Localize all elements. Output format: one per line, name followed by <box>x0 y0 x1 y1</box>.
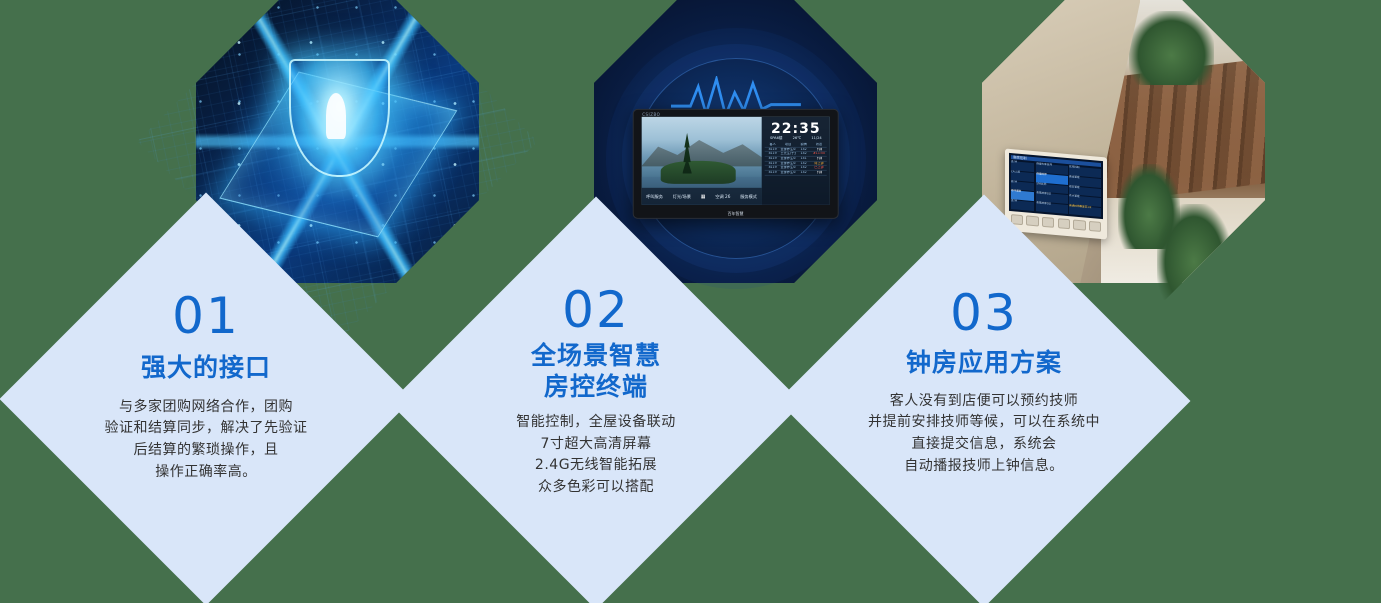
wallpaper-scenery: 呼叫服务 灯光/场景 ▦ 空调 26 服务模式 <box>641 117 762 205</box>
panel-1-desc-line-0: 与多家团购网络合作，团购 <box>105 397 308 419</box>
row-status: 待上钟 <box>811 162 826 166</box>
lock-keyhole-icon <box>326 93 346 138</box>
panel-3-desc-line-3: 自动播报技师上钟信息。 <box>868 456 1100 478</box>
clock-location: SPA6楼 <box>770 137 783 141</box>
row-status: 下钟 <box>811 157 826 161</box>
panel-1-number: 01 <box>172 291 240 341</box>
row-status: 下钟 <box>811 148 826 152</box>
panel-3-content: 03 钟房应用方案 客人没有到店便可以预约技师 并提前安排技师等候，可以在系统中… <box>838 255 1130 547</box>
panel-3-desc-line-0: 客人没有到店便可以预约技师 <box>868 391 1100 413</box>
panel-1-desc-line-3: 操作正确率高。 <box>105 462 308 484</box>
plant-2 <box>1157 204 1231 300</box>
panel-1-description: 与多家团购网络合作，团购 验证和结算同步，解决了先验证 后结算的繁琐操作，且 操… <box>105 397 308 484</box>
row-item: 全身养生SPA <box>780 162 795 166</box>
table-header-0: 客人 <box>765 143 780 147</box>
room-control-tablet[interactable]: CSIZBO 呼叫服务 灯光/场景 ▦ 空调 26 服务模式 <box>632 109 839 219</box>
row-status: 下钟 <box>811 171 826 175</box>
panel-1-desc-line-2: 后结算的繁琐操作，且 <box>105 440 308 462</box>
hardware-button-4[interactable] <box>1057 218 1069 230</box>
hardware-button-2[interactable] <box>1026 215 1038 227</box>
wall-side-button[interactable]: 直 钟 <box>1011 200 1034 211</box>
panel-2-desc-line-2: 2.4G无线智能拓展 <box>516 455 676 477</box>
clock-date: 11/24 <box>811 137 821 141</box>
wall-menu-item[interactable]: 香薰按摩3层 <box>1036 202 1068 214</box>
row-badge: 142 <box>796 152 811 156</box>
row-guest: 8119 <box>765 148 780 152</box>
wall-menu-item[interactable]: 普通技师康复区1/2 <box>1069 205 1101 217</box>
panel-1-title: 强大的接口 <box>141 353 271 384</box>
feature-diamond-grid: CSIZBO 呼叫服务 灯光/场景 ▦ 空调 26 服务模式 <box>0 0 1381 603</box>
panel-2-title-line-1: 房控终端 <box>531 372 661 403</box>
tablet-dock[interactable]: 呼叫服务 灯光/场景 ▦ 空调 26 服务模式 <box>641 188 762 206</box>
table-header-1: 项目 <box>780 143 795 147</box>
row-status: #11:50 <box>811 152 826 156</box>
grid-apps-icon[interactable]: ▦ <box>701 193 706 199</box>
row-item: 全身养生SPA <box>780 157 795 161</box>
row-item: 全身养生SPA <box>780 166 795 170</box>
tablet-bottom-brand: 百年智慧 <box>633 211 838 217</box>
row-guest: 8119 <box>765 157 780 161</box>
island-shape <box>661 161 736 184</box>
row-badge: 142 <box>796 171 811 175</box>
panel-2-description: 智能控制，全屋设备联动 7寸超大高清屏幕 2.4G无线智能拓展 众多色彩可以搭配 <box>516 412 676 499</box>
panel-1-desc-line-1: 验证和结算同步，解决了先验证 <box>105 418 308 440</box>
row-item: 全身养生SPA <box>780 148 795 152</box>
dock-item-0[interactable]: 呼叫服务 <box>646 193 663 199</box>
dock-item-3[interactable]: 服务模式 <box>740 193 757 199</box>
status-column: 22:35 SPA6楼 26℃ 11/24 客人 项目 钟牌 状态 8119 <box>762 117 830 205</box>
row-item: 全身养生SPA <box>780 171 795 175</box>
panel-3-desc-line-2: 直接提交信息，系统会 <box>868 434 1100 456</box>
table-header-2: 钟牌 <box>796 143 811 147</box>
tablet-screen[interactable]: 呼叫服务 灯光/场景 ▦ 空调 26 服务模式 22:35 SPA6楼 26℃ … <box>641 117 830 205</box>
clock-temperature: 26℃ <box>793 137 802 141</box>
row-guest: 8119 <box>765 152 780 156</box>
hardware-button-3[interactable] <box>1042 216 1054 228</box>
wall-panel-side-buttons[interactable]: 直 钟CALL服圆 钟呼叫服务直 钟 <box>1011 161 1034 211</box>
clock-time: 22:35 <box>765 122 827 136</box>
wall-control-panel[interactable]: 客房控制 直 钟CALL服圆 钟呼叫服务直 钟 保健专享技师区域控制保健技师搬运… <box>1005 148 1107 239</box>
wall-panel-menu[interactable]: 保健专享技师区域控制保健技师搬运管理SPA技师楼层管理香薰按摩2层茶水管理香薰按… <box>1036 163 1101 216</box>
panel-2-desc-line-3: 众多色彩可以搭配 <box>516 477 676 499</box>
panel-3-number: 03 <box>950 288 1018 338</box>
tablet-table-body: 8119全身养生SPA142下钟8119王先生/子女乐园护理142#11:508… <box>765 148 827 176</box>
row-guest: 8119 <box>765 171 780 175</box>
row-item: 王先生/子女乐园护理 <box>780 152 795 156</box>
row-status: 已上钟 <box>811 166 826 170</box>
row-badge: 142 <box>796 148 811 152</box>
wall-panel-screen[interactable]: 客房控制 直 钟CALL服圆 钟呼叫服务直 钟 保健专享技师区域控制保健技师搬运… <box>1009 153 1103 219</box>
panel-2-desc-line-0: 智能控制，全屋设备联动 <box>516 412 676 434</box>
panel-2-number: 02 <box>562 285 630 335</box>
row-guest: 8119 <box>765 166 780 170</box>
panel-1-title-line-0: 强大的接口 <box>141 353 271 384</box>
tablet-table-row[interactable]: 8119全身养生SPA142下钟 <box>765 171 827 176</box>
panel-2-content: 02 全场景智慧 房控终端 智能控制，全屋设备联动 7寸超大高清屏幕 2.4G无… <box>450 257 742 549</box>
row-guest: 8119 <box>765 162 780 166</box>
row-badge: 142 <box>796 166 811 170</box>
dock-item-1[interactable]: 灯光/场景 <box>673 193 691 199</box>
panel-2-title-line-0: 全场景智慧 <box>531 341 661 372</box>
table-header-3: 状态 <box>811 143 826 147</box>
plant-3 <box>1129 11 1214 85</box>
hardware-button-6[interactable] <box>1088 220 1100 232</box>
panel-3-description: 客人没有到店便可以预约技师 并提前安排技师等候，可以在系统中 直接提交信息，系统… <box>868 391 1100 478</box>
dock-item-2[interactable]: 空调 26 <box>715 193 730 199</box>
panel-2-title: 全场景智慧 房控终端 <box>531 341 661 402</box>
hardware-button-5[interactable] <box>1073 219 1085 231</box>
panel-1-content: 01 强大的接口 与多家团购网络合作，团购 验证和结算同步，解决了先验证 后结算… <box>60 253 352 545</box>
row-badge: 141 <box>796 157 811 161</box>
panel-3-desc-line-1: 并提前安排技师等候，可以在系统中 <box>868 412 1100 434</box>
panel-3-title: 钟房应用方案 <box>906 348 1062 379</box>
row-badge: 142 <box>796 162 811 166</box>
panel-3-title-line-0: 钟房应用方案 <box>906 348 1062 379</box>
panel-2-desc-line-1: 7寸超大高清屏幕 <box>516 434 676 456</box>
